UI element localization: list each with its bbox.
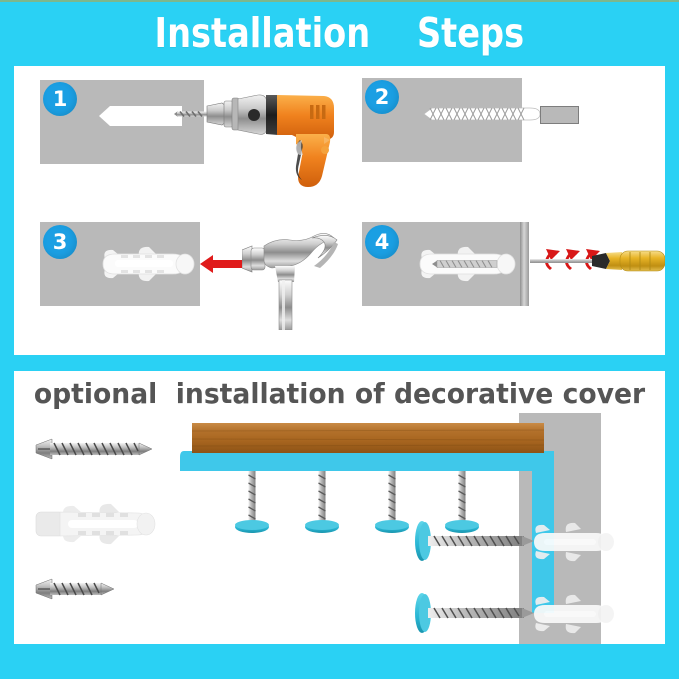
wall-anchor-icon [534, 595, 614, 633]
plastic-anchor-icon [101, 245, 197, 283]
parts-list [34, 433, 174, 623]
claw-hammer-icon [242, 226, 342, 330]
step-badge-1: 1 [43, 82, 77, 116]
plastic-anchor-icon [422, 104, 542, 124]
vertical-screw [235, 471, 269, 533]
step-badge-4: 4 [365, 225, 399, 259]
plastic-anchor-with-screw-icon [418, 245, 522, 283]
decorative-cover-strip [184, 451, 554, 613]
page-header: Installation Steps [0, 2, 679, 64]
screwdriver-icon [530, 248, 665, 274]
plastic-anchor-icon [36, 504, 155, 544]
vertical-screw [375, 471, 409, 533]
wooden-board [192, 423, 544, 453]
step-2-insert-anchor: 2 [340, 66, 665, 211]
wall-anchor-icon [534, 523, 614, 561]
red-arrow-left-icon [200, 254, 242, 274]
step-badge-2: 2 [365, 80, 399, 114]
optional-section-title: optional installation of decorative cove… [30, 379, 648, 409]
step-4-drive-screw: 4 [340, 212, 665, 355]
step-1-drill-hole: 1 [14, 66, 339, 211]
step-badge-3: 3 [43, 225, 77, 259]
installation-steps-panel: 1 [14, 66, 665, 355]
long-screw-icon [36, 439, 152, 459]
wall-edge [520, 222, 529, 306]
drilled-hole [110, 106, 182, 126]
short-screw-icon [36, 579, 114, 599]
assembly-illustration [174, 413, 665, 644]
page-title: Installation Steps [155, 13, 525, 54]
vertical-screw [305, 471, 339, 533]
screw-icon [432, 260, 497, 268]
drill-bit-icon [174, 111, 207, 117]
horizontal-screw-group [415, 521, 534, 633]
optional-decorative-cover-panel: optional installation of decorative cove… [14, 371, 665, 644]
push-tab [540, 106, 579, 124]
power-drill-icon [174, 88, 339, 194]
horizontal-screw [415, 593, 534, 633]
vertical-screw [445, 471, 479, 533]
step-3-hammer-anchor: 3 [14, 212, 339, 355]
vertical-screw-group [235, 471, 479, 533]
